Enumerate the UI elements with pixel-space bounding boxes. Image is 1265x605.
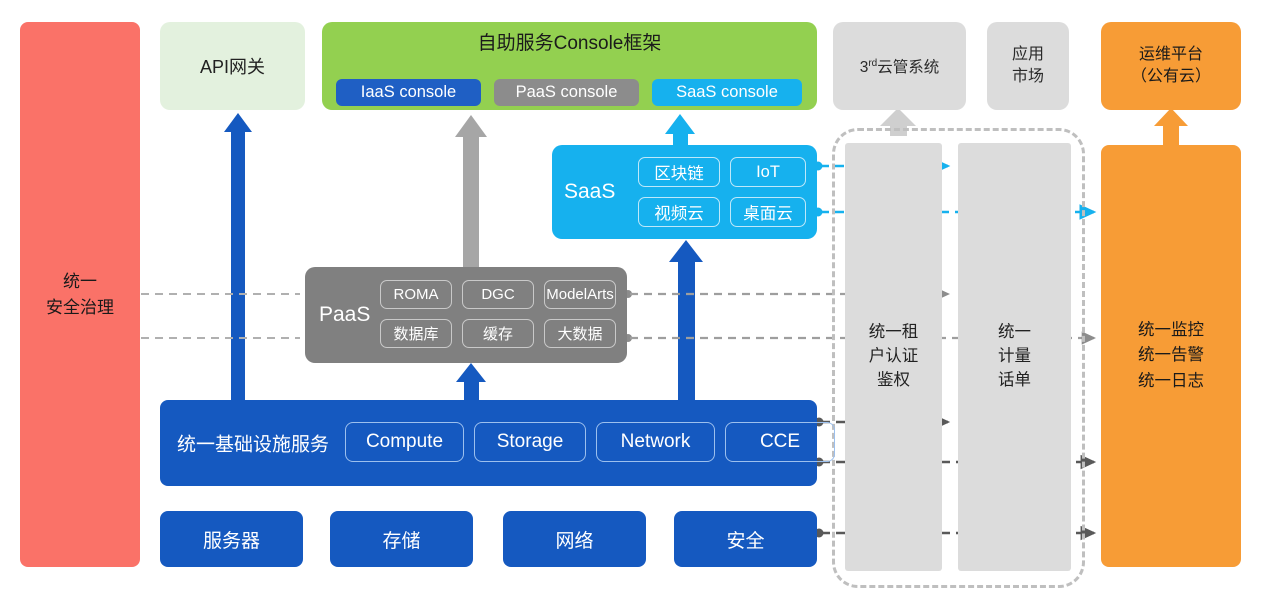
ops-monitor-line-2: 统一告警 [1138, 343, 1204, 369]
iaas-chip-network-label: Network [621, 431, 691, 453]
third-cloud-superscript: rd [868, 58, 877, 69]
iaas-chip-cce-label: CCE [760, 431, 800, 453]
paas-chip-cache-label: 缓存 [483, 323, 513, 344]
saas-chip-video-cloud[interactable]: 视频云 [638, 197, 720, 227]
api-gateway-label: API网关 [200, 53, 265, 79]
iaas-chip-compute[interactable]: Compute [345, 422, 464, 462]
api-gateway-box: API网关 [160, 22, 305, 110]
iaas-chip-storage-label: Storage [497, 431, 564, 453]
ops-platform-box: 运维平台 （公有云） [1101, 22, 1241, 110]
ops-monitor-line-3: 统一日志 [1138, 369, 1204, 395]
architecture-diagram: 统一 安全治理 API网关 自助服务Console框架 IaaS console… [0, 0, 1265, 605]
hardware-server-label: 服务器 [203, 526, 260, 553]
arrow-to-ops-platform [1154, 108, 1188, 145]
iaas-chip-compute-label: Compute [366, 431, 443, 453]
third-cloud-suffix: 云管系统 [877, 59, 939, 76]
hardware-security-label: 安全 [726, 526, 764, 553]
metering-line-1: 统一 [998, 321, 1031, 345]
paas-console-chip[interactable]: PaaS console [494, 79, 639, 106]
paas-chip-modelarts-label: ModelArts [546, 286, 614, 303]
saas-chip-iot[interactable]: IoT [730, 157, 806, 187]
app-market-line-2: 市场 [1012, 66, 1044, 88]
ops-monitor-line-1: 统一监控 [1138, 318, 1204, 344]
saas-chip-desktop-cloud-label: 桌面云 [743, 200, 793, 224]
saas-console-label: SaaS console [676, 83, 778, 102]
hardware-box-network[interactable]: 网络 [503, 511, 646, 567]
paas-chip-roma[interactable]: ROMA [380, 280, 452, 309]
paas-chip-bigdata-label: 大数据 [557, 323, 602, 344]
hardware-box-storage[interactable]: 存储 [330, 511, 473, 567]
security-line-1: 统一 [46, 269, 114, 295]
arrow-iaas-to-paas [456, 363, 486, 402]
auth-line-3: 鉴权 [869, 369, 919, 393]
console-framework-title: 自助服务Console框架 [322, 28, 817, 55]
console-framework-box: 自助服务Console框架 IaaS console PaaS console … [322, 22, 817, 110]
app-market-line-1: 应用 [1012, 44, 1044, 66]
arrow-iaas-to-saas [669, 240, 703, 402]
security-line-2: 安全治理 [46, 295, 114, 321]
unified-metering-billing-column: 统一 计量 话单 [958, 143, 1071, 571]
arrow-iaas-to-api-gateway [224, 113, 252, 400]
paas-chip-database-label: 数据库 [393, 323, 438, 344]
saas-label: SaaS [564, 180, 615, 204]
paas-label: PaaS [319, 303, 370, 327]
metering-line-3: 话单 [998, 369, 1031, 393]
paas-block: PaaS ROMA DGC ModelArts 数据库 缓存 大数据 [305, 267, 627, 363]
third-party-cloud-mgmt-box: 3rd云管系统 [833, 22, 966, 110]
paas-chip-dgc-label: DGC [481, 286, 514, 303]
security-governance-panel: 统一 安全治理 [20, 22, 140, 567]
saas-chip-video-cloud-label: 视频云 [654, 200, 704, 224]
paas-chip-cache[interactable]: 缓存 [462, 319, 534, 348]
hardware-storage-label: 存储 [382, 526, 420, 553]
saas-block: SaaS 区块链 IoT 视频云 桌面云 [552, 145, 817, 239]
iaas-console-chip[interactable]: IaaS console [336, 79, 481, 106]
saas-chip-desktop-cloud[interactable]: 桌面云 [730, 197, 806, 227]
paas-chip-bigdata[interactable]: 大数据 [544, 319, 616, 348]
ops-platform-line-1: 运维平台 [1131, 44, 1211, 66]
third-cloud-label: 3rd云管系统 [860, 55, 940, 77]
iaas-label: 统一基础设施服务 [177, 430, 329, 457]
paas-chip-modelarts[interactable]: ModelArts [544, 280, 616, 309]
iaas-console-label: IaaS console [361, 83, 456, 102]
paas-chip-dgc[interactable]: DGC [462, 280, 534, 309]
arrow-paas-to-console [455, 115, 487, 267]
saas-chip-blockchain-label: 区块链 [654, 160, 704, 184]
metering-line-2: 计量 [998, 345, 1031, 369]
iaas-chip-storage[interactable]: Storage [474, 422, 586, 462]
arrow-saas-to-console [665, 114, 695, 146]
auth-line-1: 统一租 [869, 321, 919, 345]
saas-console-chip[interactable]: SaaS console [652, 79, 802, 106]
auth-line-2: 户认证 [869, 345, 919, 369]
iaas-chip-network[interactable]: Network [596, 422, 715, 462]
dashed-security-to-auth [141, 294, 300, 338]
app-market-box: 应用 市场 [987, 22, 1069, 110]
hardware-network-label: 网络 [555, 526, 593, 553]
unified-tenant-auth-column: 统一租 户认证 鉴权 [845, 143, 942, 571]
iaas-chip-cce[interactable]: CCE [725, 422, 835, 462]
saas-chip-iot-label: IoT [756, 163, 780, 182]
ops-platform-line-2: （公有云） [1131, 66, 1211, 88]
ops-monitor-panel: 统一监控 统一告警 统一日志 [1101, 145, 1241, 567]
saas-chip-blockchain[interactable]: 区块链 [638, 157, 720, 187]
hardware-box-server[interactable]: 服务器 [160, 511, 303, 567]
hardware-box-security[interactable]: 安全 [674, 511, 817, 567]
unified-infrastructure-bar: 统一基础设施服务 Compute Storage Network CCE [160, 400, 817, 486]
paas-chip-database[interactable]: 数据库 [380, 319, 452, 348]
paas-console-label: PaaS console [516, 83, 618, 102]
paas-chip-roma-label: ROMA [394, 286, 439, 303]
